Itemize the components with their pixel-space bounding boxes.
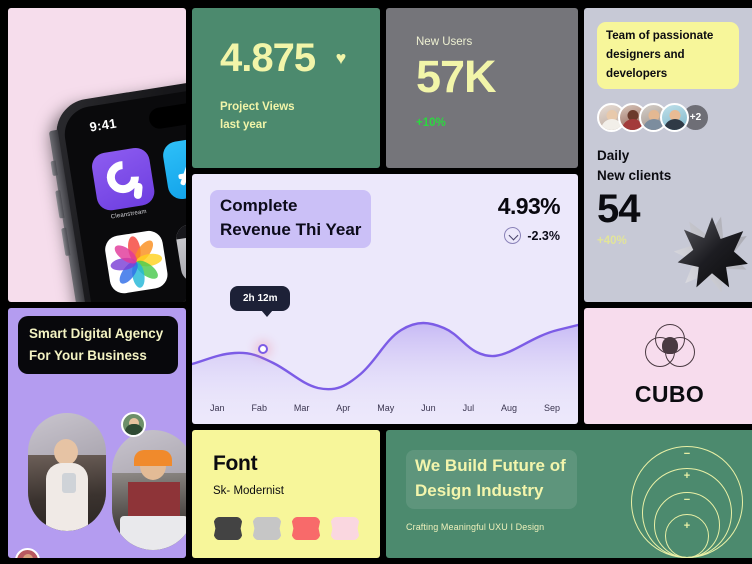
status-bar-time: 9:41 — [88, 116, 117, 135]
moodboard-grid: 9:41 Cleanstream App Store — [8, 8, 744, 556]
font-card-title: Font — [213, 452, 380, 476]
chart-title-line2: Revenue Thi Year — [220, 218, 361, 242]
ring-symbol-3: − — [684, 494, 690, 506]
avatar-small-top[interactable] — [121, 412, 146, 437]
phone-device: 9:41 Cleanstream App Store — [52, 75, 186, 302]
chart-kpi-value: 4.93% — [498, 193, 560, 220]
x-tick-fab: Fab — [251, 403, 267, 413]
chart-kpi: 4.93% -2.3% — [498, 190, 560, 244]
ring-symbol-4: + — [684, 520, 690, 532]
cubo-venn-icon — [645, 324, 695, 368]
photos-app-icon[interactable] — [103, 229, 169, 295]
app-app-store[interactable]: App Store — [161, 135, 186, 211]
app-store-icon[interactable] — [161, 135, 186, 201]
color-swatch-row — [213, 517, 380, 540]
chart-kpi-delta: -2.3% — [527, 229, 560, 243]
project-views-card: 4.875 ♥ Project Views last year — [192, 8, 380, 168]
chevron-down-icon[interactable] — [504, 227, 521, 244]
x-tick-jul: Jul — [463, 403, 475, 413]
ring-symbol-1: − — [684, 448, 690, 460]
app-cleanstream[interactable]: Cleanstream — [90, 146, 158, 222]
team-headline: Team of passionate designers and develop… — [597, 22, 739, 89]
build-headline-line2: Design Industry — [415, 479, 566, 504]
heart-icon: ♥ — [336, 48, 347, 69]
daily-clients-label-line1: Daily — [597, 146, 752, 166]
cubo-logo-card: CUBO — [584, 308, 752, 424]
camera-app-icon[interactable] — [174, 218, 186, 284]
build-headline: We Build Future of Design Industry — [406, 450, 577, 509]
daily-clients-label-line2: New clients — [597, 166, 752, 186]
smart-digital-agency-card: Smart Digital Agency For Your Business — [8, 308, 186, 558]
home-screen-app-grid: Cleanstream App Store — [90, 135, 186, 300]
daily-clients-label: Daily New clients — [597, 146, 752, 185]
project-views-label: Project Views last year — [220, 99, 380, 135]
font-card: Font Sk- Modernist — [192, 430, 380, 558]
project-views-value: 4.875 — [220, 38, 315, 78]
project-views-label-line1: Project Views — [220, 99, 380, 117]
app-camera[interactable] — [174, 218, 186, 288]
x-tick-jun: Jun — [421, 403, 436, 413]
ring-symbol-2: + — [684, 470, 690, 482]
color-swatch[interactable] — [330, 517, 360, 540]
phone-mockup-card: 9:41 Cleanstream App Store — [8, 8, 186, 302]
new-users-value: 57K — [416, 54, 578, 99]
team-photo-woman-laptop — [112, 430, 186, 550]
cleanstream-app-icon[interactable] — [90, 146, 156, 212]
x-tick-may: May — [377, 403, 394, 413]
x-tick-sep: Sep — [544, 403, 560, 413]
x-tick-apr: Apr — [336, 403, 350, 413]
dynamic-island — [148, 98, 186, 130]
chart-tooltip: 2h 12m — [230, 286, 290, 311]
chart-title: Complete Revenue Thi Year — [210, 190, 371, 248]
cubo-brand-name: CUBO — [635, 381, 704, 408]
x-tick-jan: Jan — [210, 403, 225, 413]
revenue-chart-card: Complete Revenue Thi Year 4.93% -2.3% — [192, 174, 578, 424]
app-photos[interactable] — [103, 229, 170, 299]
chart-kpi-delta-row: -2.3% — [498, 227, 560, 244]
smart-agency-headline: Smart Digital Agency For Your Business — [18, 316, 178, 374]
team-card: Team of passionate designers and develop… — [584, 8, 752, 302]
chart-data-point-marker[interactable] — [258, 344, 268, 354]
project-views-label-line2: last year — [220, 117, 380, 135]
avatar-small-bottom[interactable] — [15, 548, 40, 558]
avatar[interactable] — [660, 103, 689, 132]
app-label — [184, 279, 186, 288]
build-headline-line1: We Build Future of — [415, 454, 566, 479]
chart-header: Complete Revenue Thi Year 4.93% -2.3% — [192, 190, 578, 248]
we-build-future-card: We Build Future of Design Industry Craft… — [386, 430, 752, 558]
concentric-rings-icon: − + − + — [631, 440, 743, 558]
new-users-label: New Users — [416, 36, 578, 48]
chart-plot-area[interactable]: 2h 12m Jan Fab Mar Apr May Jun Jul Aug S… — [192, 278, 578, 424]
new-users-delta-badge: +10% — [416, 117, 578, 129]
avatar-group[interactable]: +2 — [597, 103, 752, 132]
chart-x-axis-labels: Jan Fab Mar Apr May Jun Jul Aug Sep — [192, 403, 578, 413]
font-card-subtitle: Sk- Modernist — [213, 485, 380, 497]
team-photo-woman-phone — [28, 413, 106, 531]
color-swatch[interactable] — [213, 517, 243, 540]
star-burst-icon — [673, 214, 751, 292]
new-users-card: New Users 57K +10% — [386, 8, 578, 168]
x-tick-mar: Mar — [294, 403, 310, 413]
color-swatch[interactable] — [252, 517, 282, 540]
x-tick-aug: Aug — [501, 403, 517, 413]
chart-title-line1: Complete — [220, 194, 361, 218]
color-swatch[interactable] — [291, 517, 321, 540]
